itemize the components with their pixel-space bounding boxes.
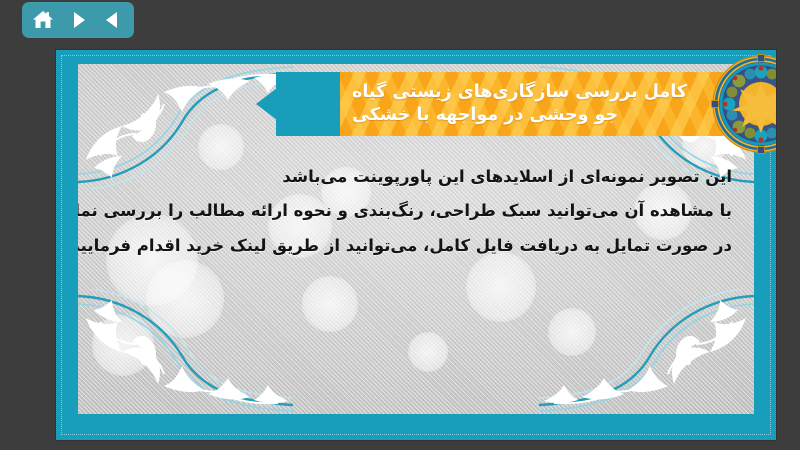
banner-arrow-left-icon: [256, 72, 298, 136]
body-line-2: با مشاهده آن می‌توانید سبک طراحی، رنگ‌بن…: [100, 194, 732, 228]
back-button[interactable]: [98, 7, 128, 33]
slide-frame: این تصویر نمونه‌ای از اسلایدهای این پاور…: [56, 50, 776, 440]
persian-medallion-ornament: [711, 54, 776, 154]
bokeh-circle: [302, 276, 358, 332]
forward-button[interactable]: [63, 7, 93, 33]
arabesque-corner-ornament: [539, 289, 754, 414]
title-plate: کامل بررسی سازگاری‌های زیستی گیاه جو وحش…: [340, 72, 735, 136]
page-title-line-2: جو وحشی در مواجهه با خشکی: [352, 104, 618, 127]
page-title-line-1: کامل بررسی سازگاری‌های زیستی گیاه: [352, 81, 687, 104]
triangle-right-icon: [68, 10, 88, 30]
slide-viewer: این تصویر نمونه‌ای از اسلایدهای این پاور…: [0, 0, 800, 450]
arabesque-corner-ornament: [78, 289, 293, 414]
bokeh-circle: [92, 314, 154, 376]
home-icon: [32, 10, 54, 30]
body-line-1: این تصویر نمونه‌ای از اسلایدهای این پاور…: [100, 160, 732, 194]
navigation-bar: [22, 2, 134, 38]
body-line-3: در صورت تمایل به دریافت فایل کامل، می‌تو…: [100, 229, 732, 263]
slide-title-banner: کامل بررسی سازگاری‌های زیستی گیاه جو وحش…: [256, 66, 776, 142]
slide-body-text: این تصویر نمونه‌ای از اسلایدهای این پاور…: [100, 160, 732, 263]
bokeh-circle: [408, 332, 448, 372]
bokeh-circle: [548, 308, 596, 356]
triangle-left-icon: [103, 10, 123, 30]
home-button[interactable]: [28, 7, 58, 33]
bokeh-circle: [146, 260, 224, 338]
